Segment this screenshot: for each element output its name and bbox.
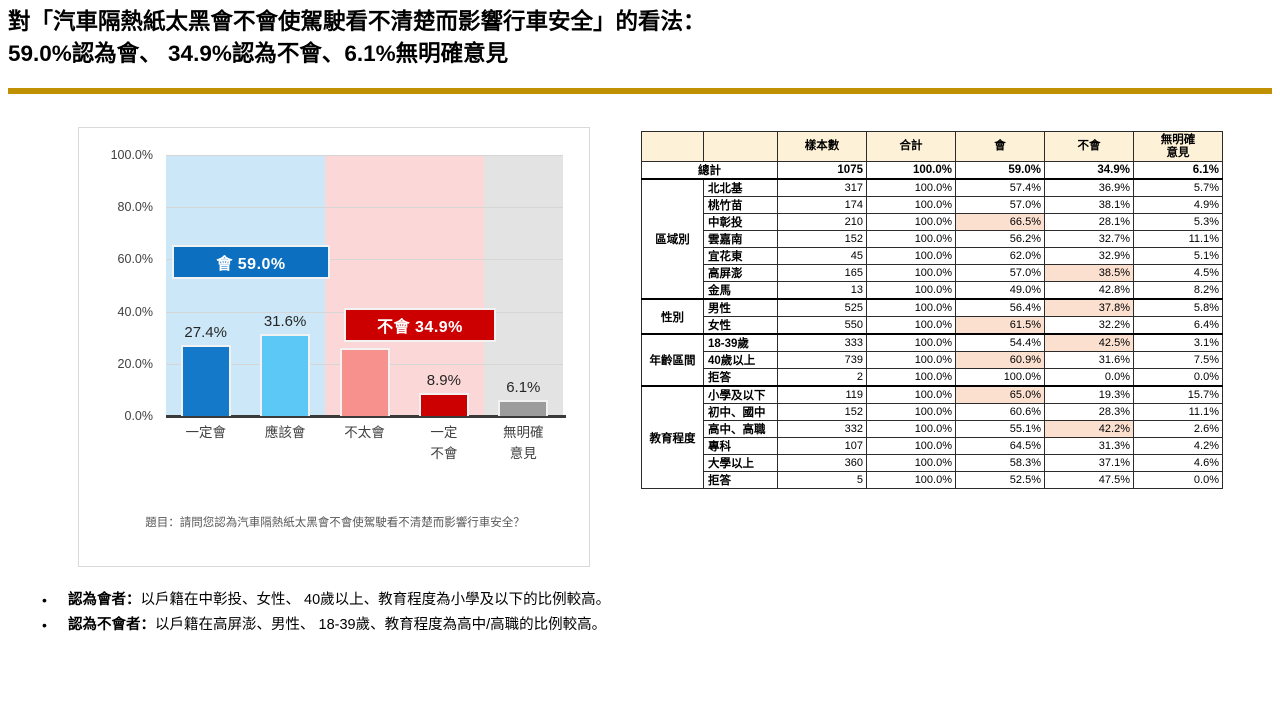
cell-unsure: 2.6% xyxy=(1134,421,1223,438)
cell-sample: 119 xyxy=(778,386,867,404)
cell-yes: 58.3% xyxy=(956,455,1045,472)
row-sublabel: 高屏澎 xyxy=(704,265,778,282)
cell-sample: 107 xyxy=(778,438,867,455)
bullet-bold-label: 認為不會者： xyxy=(68,617,155,633)
x-axis-label-5: 無明確意見 xyxy=(483,422,563,464)
header-no: 不會 xyxy=(1045,132,1134,162)
table-header-row: 樣本數 合計 會 不會 無明確 意見 xyxy=(642,132,1223,162)
table-row: 桃竹苗174100.0%57.0%38.1%4.9% xyxy=(642,197,1223,214)
bar-5[interactable] xyxy=(498,400,548,416)
row-sublabel: 北北基 xyxy=(704,179,778,197)
row-label-total: 總計 xyxy=(642,162,778,180)
x-axis-label-2: 應該會 xyxy=(245,422,325,443)
chart-plot-wrapper: 0.0%20.0%40.0%60.0%80.0%100.0% 27.4%31.6… xyxy=(79,128,591,458)
cell-unsure: 5.3% xyxy=(1134,214,1223,231)
cell-sample: 1075 xyxy=(778,162,867,180)
x-label-line: 應該會 xyxy=(245,422,325,443)
cell-unsure: 5.7% xyxy=(1134,179,1223,197)
cell-yes: 65.0% xyxy=(956,386,1045,404)
chart-question-note: 題目：請問您認為汽車隔熱紙太黑會不會使駕駛看不清楚而影響行車安全？ xyxy=(79,514,591,530)
cell-yes: 61.5% xyxy=(956,317,1045,335)
row-sublabel: 男性 xyxy=(704,299,778,317)
cell-total: 100.0% xyxy=(867,421,956,438)
bar-value-label-2: 31.6% xyxy=(245,313,325,330)
bullet-marker-icon: • xyxy=(42,589,47,612)
cell-yes: 57.4% xyxy=(956,179,1045,197)
cell-unsure: 4.2% xyxy=(1134,438,1223,455)
y-tick-label: 60.0% xyxy=(93,252,153,266)
row-group-label: 教育程度 xyxy=(642,386,704,489)
title-line-1: 對「汽車隔熱紙太黑會不會使駕駛看不清楚而影響行車安全」的看法： xyxy=(8,6,1272,38)
cell-total: 100.0% xyxy=(867,197,956,214)
chart-plot-area: 27.4%31.6%26.0%8.9%6.1%會 59.0%不會 34.9% xyxy=(166,155,563,416)
cell-sample: 5 xyxy=(778,472,867,489)
cell-unsure: 0.0% xyxy=(1134,369,1223,387)
cell-sample: 525 xyxy=(778,299,867,317)
gridline xyxy=(166,207,563,208)
header-total: 合計 xyxy=(867,132,956,162)
bar-3[interactable] xyxy=(340,348,390,416)
cell-no: 32.9% xyxy=(1045,248,1134,265)
summary-bullet-1: •認為會者：以戶籍在中彰投、女性、 40歲以上、教育程度為小學及以下的比例較高。 xyxy=(36,589,676,612)
cell-unsure: 4.9% xyxy=(1134,197,1223,214)
summary-bullet-2: •認為不會者：以戶籍在高屏澎、男性、 18-39歲、教育程度為高中/高職的比例較… xyxy=(36,614,676,637)
table-row: 宜花東45100.0%62.0%32.9%5.1% xyxy=(642,248,1223,265)
cell-sample: 333 xyxy=(778,334,867,352)
crosstab-table-wrapper: 樣本數 合計 會 不會 無明確 意見 總計1075100.0%59.0%34.9… xyxy=(641,131,1223,489)
y-axis-tick-labels: 0.0%20.0%40.0%60.0%80.0%100.0% xyxy=(91,128,153,458)
cell-unsure: 3.1% xyxy=(1134,334,1223,352)
cell-no: 31.3% xyxy=(1045,438,1134,455)
cell-yes: 54.4% xyxy=(956,334,1045,352)
cell-total: 100.0% xyxy=(867,369,956,387)
page-title: 對「汽車隔熱紙太黑會不會使駕駛看不清楚而影響行車安全」的看法： 59.0%認為會… xyxy=(8,6,1272,70)
table-row: 區域別北北基317100.0%57.4%36.9%5.7% xyxy=(642,179,1223,197)
cell-yes: 57.0% xyxy=(956,265,1045,282)
gridline xyxy=(166,155,563,156)
table-row: 40歲以上739100.0%60.9%31.6%7.5% xyxy=(642,352,1223,369)
table-row: 金馬13100.0%49.0%42.8%8.2% xyxy=(642,282,1223,300)
cell-total: 100.0% xyxy=(867,179,956,197)
x-axis-category-labels: 一定會應該會不太會一定不會無明確意見 xyxy=(166,422,566,482)
cell-sample: 210 xyxy=(778,214,867,231)
cell-no: 42.8% xyxy=(1045,282,1134,300)
cell-no: 42.5% xyxy=(1045,334,1134,352)
cell-yes: 55.1% xyxy=(956,421,1045,438)
x-label-line: 不會 xyxy=(404,443,484,464)
row-sublabel: 高中、高職 xyxy=(704,421,778,438)
cell-total: 100.0% xyxy=(867,162,956,180)
cell-no: 38.5% xyxy=(1045,265,1134,282)
row-sublabel: 拒答 xyxy=(704,369,778,387)
cell-no: 38.1% xyxy=(1045,197,1134,214)
bullet-bold-label: 認為會者： xyxy=(68,592,141,608)
cell-yes: 66.5% xyxy=(956,214,1045,231)
row-group-label: 性別 xyxy=(642,299,704,334)
cell-unsure: 5.1% xyxy=(1134,248,1223,265)
cell-sample: 174 xyxy=(778,197,867,214)
cell-yes: 100.0% xyxy=(956,369,1045,387)
cell-no: 32.2% xyxy=(1045,317,1134,335)
row-sublabel: 初中、國中 xyxy=(704,404,778,421)
row-sublabel: 雲嘉南 xyxy=(704,231,778,248)
chart-callout-1: 會 59.0% xyxy=(172,245,330,279)
cell-unsure: 5.8% xyxy=(1134,299,1223,317)
cell-total: 100.0% xyxy=(867,386,956,404)
cell-unsure: 0.0% xyxy=(1134,472,1223,489)
cell-sample: 739 xyxy=(778,352,867,369)
table-row: 大學以上360100.0%58.3%37.1%4.6% xyxy=(642,455,1223,472)
cell-total: 100.0% xyxy=(867,334,956,352)
row-group-label: 區域別 xyxy=(642,179,704,299)
table-row: 拒答5100.0%52.5%47.5%0.0% xyxy=(642,472,1223,489)
x-label-line: 不太會 xyxy=(325,422,405,443)
table-row: 專科107100.0%64.5%31.3%4.2% xyxy=(642,438,1223,455)
cell-sample: 360 xyxy=(778,455,867,472)
table-row: 性別男性525100.0%56.4%37.8%5.8% xyxy=(642,299,1223,317)
cell-yes: 56.2% xyxy=(956,231,1045,248)
cell-unsure: 4.6% xyxy=(1134,455,1223,472)
cell-yes: 56.4% xyxy=(956,299,1045,317)
cell-unsure: 11.1% xyxy=(1134,231,1223,248)
cell-total: 100.0% xyxy=(867,472,956,489)
bullet-marker-icon: • xyxy=(42,614,47,637)
cell-no: 37.1% xyxy=(1045,455,1134,472)
cell-unsure: 8.2% xyxy=(1134,282,1223,300)
cell-no: 28.1% xyxy=(1045,214,1134,231)
title-line-2: 59.0%認為會、 34.9%認為不會、6.1%無明確意見 xyxy=(8,38,1272,70)
x-axis-label-1: 一定會 xyxy=(166,422,246,443)
row-sublabel: 專科 xyxy=(704,438,778,455)
cell-sample: 550 xyxy=(778,317,867,335)
table-row: 雲嘉南152100.0%56.2%32.7%11.1% xyxy=(642,231,1223,248)
x-axis-label-4: 一定不會 xyxy=(404,422,484,464)
bar-value-label-1: 27.4% xyxy=(166,324,246,341)
cell-total: 100.0% xyxy=(867,317,956,335)
row-sublabel: 桃竹苗 xyxy=(704,197,778,214)
header-yes: 會 xyxy=(956,132,1045,162)
x-axis-label-3: 不太會 xyxy=(325,422,405,443)
table-row: 女性550100.0%61.5%32.2%6.4% xyxy=(642,317,1223,335)
cell-unsure: 15.7% xyxy=(1134,386,1223,404)
cell-unsure: 7.5% xyxy=(1134,352,1223,369)
cell-yes: 59.0% xyxy=(956,162,1045,180)
bullet-text: 以戶籍在高屏澎、男性、 18-39歲、教育程度為高中/高職的比例較高。 xyxy=(155,617,606,633)
cell-total: 100.0% xyxy=(867,352,956,369)
bar-chart-card: 0.0%20.0%40.0%60.0%80.0%100.0% 27.4%31.6… xyxy=(78,127,590,567)
cell-sample: 152 xyxy=(778,231,867,248)
cell-no: 37.8% xyxy=(1045,299,1134,317)
bar-2[interactable] xyxy=(260,334,310,416)
cell-no: 31.6% xyxy=(1045,352,1134,369)
cell-no: 0.0% xyxy=(1045,369,1134,387)
header-unsure: 無明確 意見 xyxy=(1134,132,1223,162)
header-sample: 樣本數 xyxy=(778,132,867,162)
row-sublabel: 18-39歲 xyxy=(704,334,778,352)
cell-total: 100.0% xyxy=(867,282,956,300)
cell-total: 100.0% xyxy=(867,231,956,248)
cell-unsure: 6.1% xyxy=(1134,162,1223,180)
y-tick-label: 80.0% xyxy=(93,200,153,214)
cell-no: 32.7% xyxy=(1045,231,1134,248)
table-row-total: 總計1075100.0%59.0%34.9%6.1% xyxy=(642,162,1223,180)
cell-sample: 332 xyxy=(778,421,867,438)
summary-bullet-list: •認為會者：以戶籍在中彰投、女性、 40歲以上、教育程度為小學及以下的比例較高。… xyxy=(36,589,676,638)
cell-yes: 52.5% xyxy=(956,472,1045,489)
y-tick-label: 40.0% xyxy=(93,305,153,319)
table-row: 教育程度小學及以下119100.0%65.0%19.3%15.7% xyxy=(642,386,1223,404)
x-label-line: 無明確 xyxy=(483,422,563,443)
title-underline-rule xyxy=(8,88,1272,94)
header-unsure-line2: 意見 xyxy=(1167,147,1190,159)
y-tick-label: 20.0% xyxy=(93,357,153,371)
x-label-line: 一定會 xyxy=(166,422,246,443)
x-label-line: 意見 xyxy=(483,443,563,464)
chart-callout-2: 不會 34.9% xyxy=(344,308,496,342)
header-subgroup-corner xyxy=(704,132,778,162)
cell-no: 47.5% xyxy=(1045,472,1134,489)
cell-unsure: 11.1% xyxy=(1134,404,1223,421)
cell-sample: 165 xyxy=(778,265,867,282)
row-sublabel: 拒答 xyxy=(704,472,778,489)
table-row: 高屏澎165100.0%57.0%38.5%4.5% xyxy=(642,265,1223,282)
cell-no: 19.3% xyxy=(1045,386,1134,404)
cell-yes: 64.5% xyxy=(956,438,1045,455)
cell-unsure: 6.4% xyxy=(1134,317,1223,335)
row-sublabel: 金馬 xyxy=(704,282,778,300)
cell-total: 100.0% xyxy=(867,214,956,231)
x-label-line: 一定 xyxy=(404,422,484,443)
cell-yes: 60.9% xyxy=(956,352,1045,369)
crosstab-table: 樣本數 合計 會 不會 無明確 意見 總計1075100.0%59.0%34.9… xyxy=(641,131,1223,489)
cell-yes: 60.6% xyxy=(956,404,1045,421)
row-group-label: 年齡區間 xyxy=(642,334,704,386)
cell-total: 100.0% xyxy=(867,438,956,455)
y-tick-label: 0.0% xyxy=(93,409,153,423)
bar-value-label-5: 6.1% xyxy=(483,379,563,396)
y-tick-label: 100.0% xyxy=(93,148,153,162)
cell-sample: 152 xyxy=(778,404,867,421)
cell-yes: 49.0% xyxy=(956,282,1045,300)
table-row: 中彰投210100.0%66.5%28.1%5.3% xyxy=(642,214,1223,231)
cell-total: 100.0% xyxy=(867,248,956,265)
row-sublabel: 宜花東 xyxy=(704,248,778,265)
cell-sample: 45 xyxy=(778,248,867,265)
row-sublabel: 40歲以上 xyxy=(704,352,778,369)
table-row: 初中、國中152100.0%60.6%28.3%11.1% xyxy=(642,404,1223,421)
bullet-text: 以戶籍在中彰投、女性、 40歲以上、教育程度為小學及以下的比例較高。 xyxy=(141,592,611,608)
row-sublabel: 中彰投 xyxy=(704,214,778,231)
chart-band-3 xyxy=(484,155,563,416)
cell-no: 34.9% xyxy=(1045,162,1134,180)
cell-no: 42.2% xyxy=(1045,421,1134,438)
row-sublabel: 小學及以下 xyxy=(704,386,778,404)
cell-total: 100.0% xyxy=(867,299,956,317)
cell-no: 28.3% xyxy=(1045,404,1134,421)
cell-sample: 317 xyxy=(778,179,867,197)
table-body: 總計1075100.0%59.0%34.9%6.1%區域別北北基317100.0… xyxy=(642,162,1223,489)
bar-1[interactable] xyxy=(181,345,231,417)
cell-total: 100.0% xyxy=(867,265,956,282)
row-sublabel: 大學以上 xyxy=(704,455,778,472)
cell-sample: 13 xyxy=(778,282,867,300)
cell-no: 36.9% xyxy=(1045,179,1134,197)
header-unsure-line1: 無明確 xyxy=(1161,134,1196,146)
cell-unsure: 4.5% xyxy=(1134,265,1223,282)
bar-value-label-4: 8.9% xyxy=(404,372,484,389)
cell-yes: 62.0% xyxy=(956,248,1045,265)
cell-yes: 57.0% xyxy=(956,197,1045,214)
header-group-corner xyxy=(642,132,704,162)
table-row: 高中、高職332100.0%55.1%42.2%2.6% xyxy=(642,421,1223,438)
cell-sample: 2 xyxy=(778,369,867,387)
table-row: 拒答2100.0%100.0%0.0%0.0% xyxy=(642,369,1223,387)
cell-total: 100.0% xyxy=(867,455,956,472)
table-row: 年齡區間18-39歲333100.0%54.4%42.5%3.1% xyxy=(642,334,1223,352)
cell-total: 100.0% xyxy=(867,404,956,421)
bar-4[interactable] xyxy=(419,393,469,416)
row-sublabel: 女性 xyxy=(704,317,778,335)
